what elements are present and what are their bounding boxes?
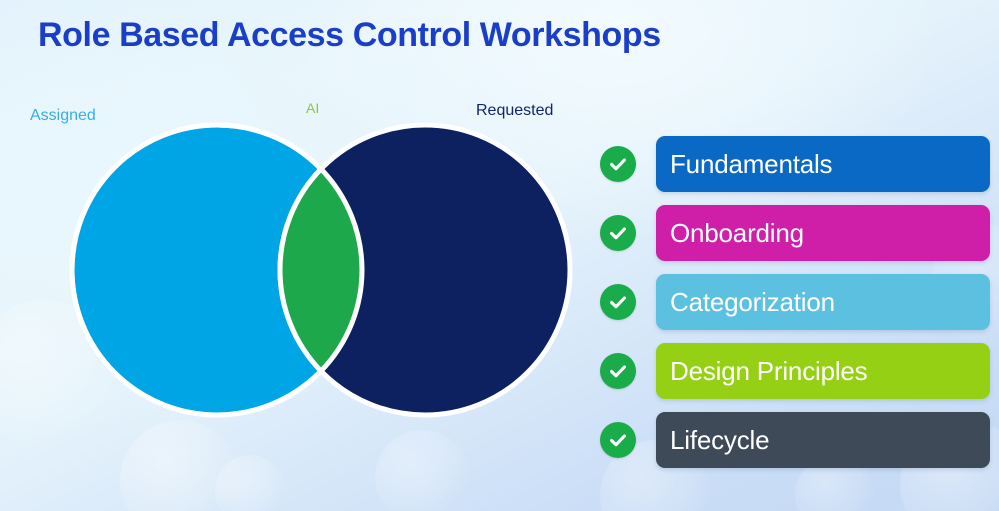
list-item-label: Lifecycle — [670, 425, 769, 456]
check-circle-icon — [600, 215, 636, 251]
check-circle-icon — [600, 284, 636, 320]
venn-diagram — [60, 112, 590, 428]
bokeh-decoration — [215, 455, 285, 511]
check-circle-icon — [600, 422, 636, 458]
check-circle-icon — [600, 146, 636, 182]
check-circle-icon — [600, 353, 636, 389]
bokeh-decoration — [375, 430, 470, 511]
workshop-checklist: Fundamentals Onboarding Categorization — [600, 136, 990, 476]
list-item-pill[interactable]: Onboarding — [656, 205, 990, 261]
slide-canvas: Role Based Access Control Workshops Assi… — [0, 0, 999, 511]
list-item[interactable]: Lifecycle — [600, 412, 990, 468]
bokeh-decoration — [120, 420, 240, 511]
list-item[interactable]: Fundamentals — [600, 136, 990, 192]
list-item[interactable]: Design Principles — [600, 343, 990, 399]
list-item-label: Categorization — [670, 287, 835, 318]
page-title: Role Based Access Control Workshops — [38, 16, 661, 55]
list-item-label: Design Principles — [670, 356, 867, 387]
list-item-label: Fundamentals — [670, 149, 832, 180]
list-item-label: Onboarding — [670, 218, 804, 249]
list-item[interactable]: Categorization — [600, 274, 990, 330]
list-item-pill[interactable]: Design Principles — [656, 343, 990, 399]
list-item[interactable]: Onboarding — [600, 205, 990, 261]
list-item-pill[interactable]: Fundamentals — [656, 136, 990, 192]
list-item-pill[interactable]: Categorization — [656, 274, 990, 330]
list-item-pill[interactable]: Lifecycle — [656, 412, 990, 468]
